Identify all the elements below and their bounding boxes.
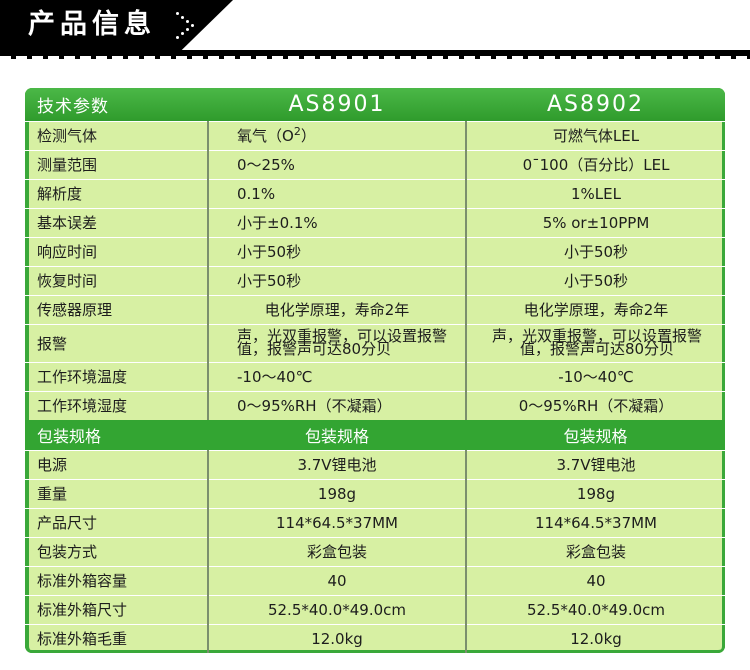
table-row: 传感器原理电化学原理，寿命2年电化学原理，寿命2年 [25, 295, 725, 324]
table-row: 电源3.7V锂电池3.7V锂电池 [25, 450, 725, 479]
section-band-row: 包装规格包装规格包装规格 [25, 420, 725, 450]
table-row: 标准外箱毛重12.0kg12.0kg [25, 624, 725, 653]
spec-value-as8902: 1%LEL [466, 179, 725, 208]
packaging-value-as8901: 114*64.5*37MM [208, 508, 466, 537]
chevron-right-icon [176, 10, 202, 40]
packaging-value-as8901: 12.0kg [208, 624, 466, 653]
table-row: 重量198g198g [25, 479, 725, 508]
spec-label: 基本误差 [25, 208, 208, 237]
packaging-label: 重量 [25, 479, 208, 508]
packaging-value-as8902: 40 [466, 566, 725, 595]
header-cell-as8902: AS8902 [466, 88, 725, 121]
spec-value-as8901: 声，光双重报警，可以设置报警值，报警声可达80分贝 [208, 324, 466, 362]
spec-value-as8902: 小于50秒 [466, 237, 725, 266]
spec-label: 恢复时间 [25, 266, 208, 295]
spec-label: 传感器原理 [25, 295, 208, 324]
table-row: 包装方式彩盒包装彩盒包装 [25, 537, 725, 566]
table-row: 报警声，光双重报警，可以设置报警值，报警声可达80分贝声，光双重报警，可以设置报… [25, 324, 725, 362]
spec-value-as8901: 电化学原理，寿命2年 [208, 295, 466, 324]
section-band-as8902: 包装规格 [466, 420, 725, 450]
spec-value-as8902: -10～40℃ [466, 362, 725, 391]
banner-dashed-line [0, 56, 750, 59]
packaging-value-as8901: 198g [208, 479, 466, 508]
packaging-label: 电源 [25, 450, 208, 479]
spec-value-as8902: 0ˉ100（百分比）LEL [466, 150, 725, 179]
spec-label: 工作环境湿度 [25, 391, 208, 420]
table-row: 响应时间小于50秒小于50秒 [25, 237, 725, 266]
spec-value-as8901: 小于±0.1% [208, 208, 466, 237]
table-row: 测量范围0～25%0ˉ100（百分比）LEL [25, 150, 725, 179]
packaging-value-as8901: 52.5*40.0*49.0cm [208, 595, 466, 624]
spec-value-as8902: 可燃气体LEL [466, 121, 725, 150]
spec-label: 报警 [25, 324, 208, 362]
table-row: 解析度0.1%1%LEL [25, 179, 725, 208]
spec-value-as8902: 电化学原理，寿命2年 [466, 295, 725, 324]
packaging-label: 标准外箱尺寸 [25, 595, 208, 624]
spec-value-as8902: 小于50秒 [466, 266, 725, 295]
table-row: 标准外箱容量4040 [25, 566, 725, 595]
product-spec-table: 技术参数 AS8901 AS8902 检测气体氧气（O2）可燃气体LEL测量范围… [25, 88, 725, 653]
spec-label: 工作环境温度 [25, 362, 208, 391]
packaging-value-as8901: 40 [208, 566, 466, 595]
page-title: 产品信息 [28, 6, 156, 44]
spec-value-as8901: 氧气（O2） [208, 121, 466, 150]
packaging-value-as8902: 3.7V锂电池 [466, 450, 725, 479]
packaging-value-as8902: 彩盒包装 [466, 537, 725, 566]
spec-value-as8901: 0～25% [208, 150, 466, 179]
section-band-label: 包装规格 [25, 420, 208, 450]
spec-value-as8901: 0～95%RH（不凝霜） [208, 391, 466, 420]
packaging-value-as8902: 52.5*40.0*49.0cm [466, 595, 725, 624]
spec-table-wrapper: 技术参数 AS8901 AS8902 检测气体氧气（O2）可燃气体LEL测量范围… [25, 88, 725, 653]
packaging-value-as8902: 114*64.5*37MM [466, 508, 725, 537]
packaging-label: 产品尺寸 [25, 508, 208, 537]
packaging-label: 标准外箱毛重 [25, 624, 208, 653]
spec-value-as8901: 小于50秒 [208, 237, 466, 266]
table-row: 恢复时间小于50秒小于50秒 [25, 266, 725, 295]
table-row: 标准外箱尺寸52.5*40.0*49.0cm52.5*40.0*49.0cm [25, 595, 725, 624]
packaging-value-as8902: 12.0kg [466, 624, 725, 653]
spec-label: 解析度 [25, 179, 208, 208]
spec-label: 检测气体 [25, 121, 208, 150]
page-banner: 产品信息 [0, 0, 750, 64]
packaging-value-as8902: 198g [466, 479, 725, 508]
header-cell-as8901: AS8901 [208, 88, 466, 121]
spec-label: 测量范围 [25, 150, 208, 179]
table-row: 基本误差小于±0.1%5% or±10PPM [25, 208, 725, 237]
table-row: 产品尺寸114*64.5*37MM114*64.5*37MM [25, 508, 725, 537]
spec-value-as8901: 0.1% [208, 179, 466, 208]
table-row: 工作环境温度-10～40℃-10～40℃ [25, 362, 725, 391]
table-row: 检测气体氧气（O2）可燃气体LEL [25, 121, 725, 150]
spec-value-as8902: 5% or±10PPM [466, 208, 725, 237]
spec-value-as8901: 小于50秒 [208, 266, 466, 295]
spec-table-body: 技术参数 AS8901 AS8902 检测气体氧气（O2）可燃气体LEL测量范围… [25, 88, 725, 653]
table-header-row: 技术参数 AS8901 AS8902 [25, 88, 725, 121]
spec-value-as8901: -10～40℃ [208, 362, 466, 391]
table-row: 工作环境湿度0～95%RH（不凝霜）0～95%RH（不凝霜） [25, 391, 725, 420]
section-band-as8901: 包装规格 [208, 420, 466, 450]
spec-value-as8902: 声，光双重报警，可以设置报警值，报警声可达80分贝 [466, 324, 725, 362]
packaging-value-as8901: 彩盒包装 [208, 537, 466, 566]
packaging-label: 包装方式 [25, 537, 208, 566]
spec-label: 响应时间 [25, 237, 208, 266]
header-cell-param: 技术参数 [25, 88, 208, 121]
spec-value-as8902: 0～95%RH（不凝霜） [466, 391, 725, 420]
packaging-value-as8901: 3.7V锂电池 [208, 450, 466, 479]
packaging-label: 标准外箱容量 [25, 566, 208, 595]
